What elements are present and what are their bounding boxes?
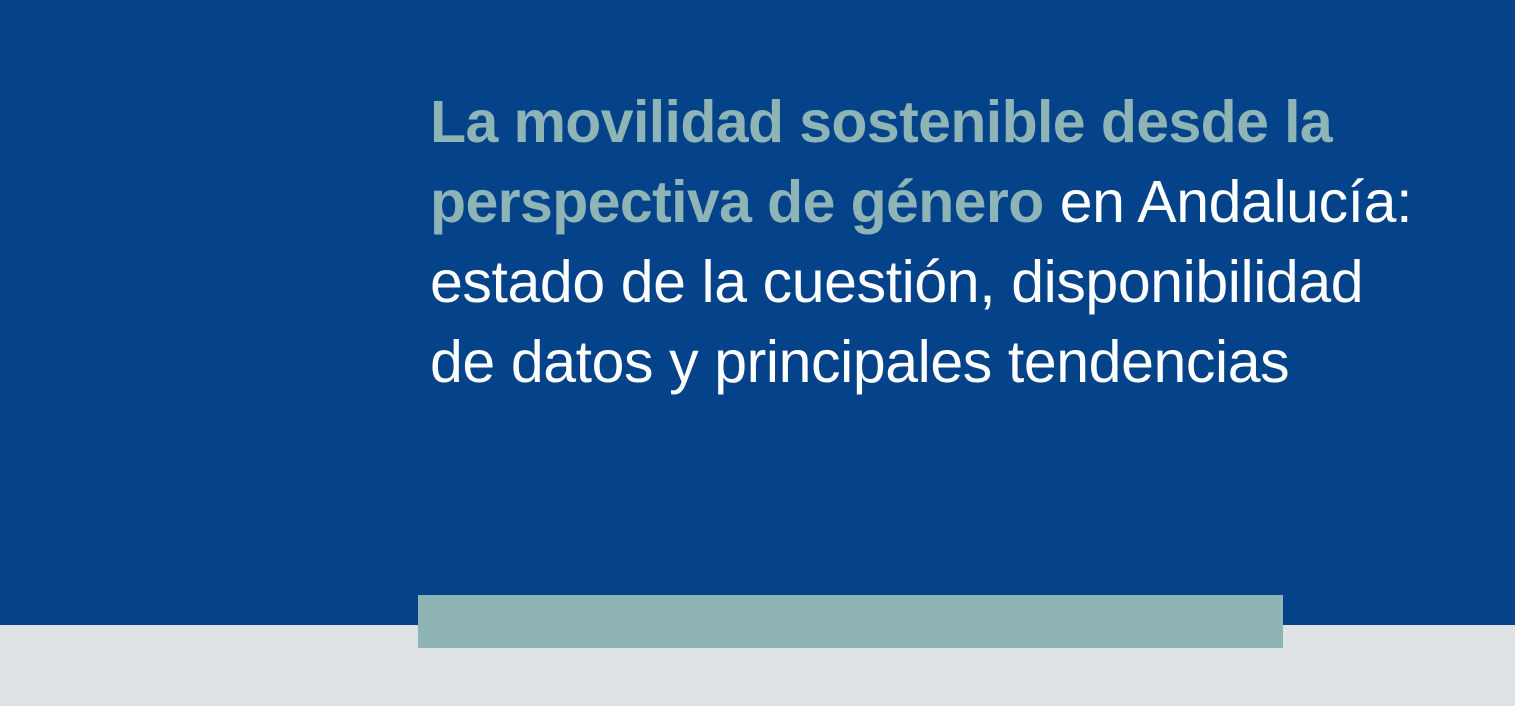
report-cover: La movilidad sostenible desde la perspec… [0, 0, 1515, 706]
cover-title: La movilidad sostenible desde la perspec… [430, 82, 1440, 402]
cover-accent-bar [418, 595, 1283, 648]
